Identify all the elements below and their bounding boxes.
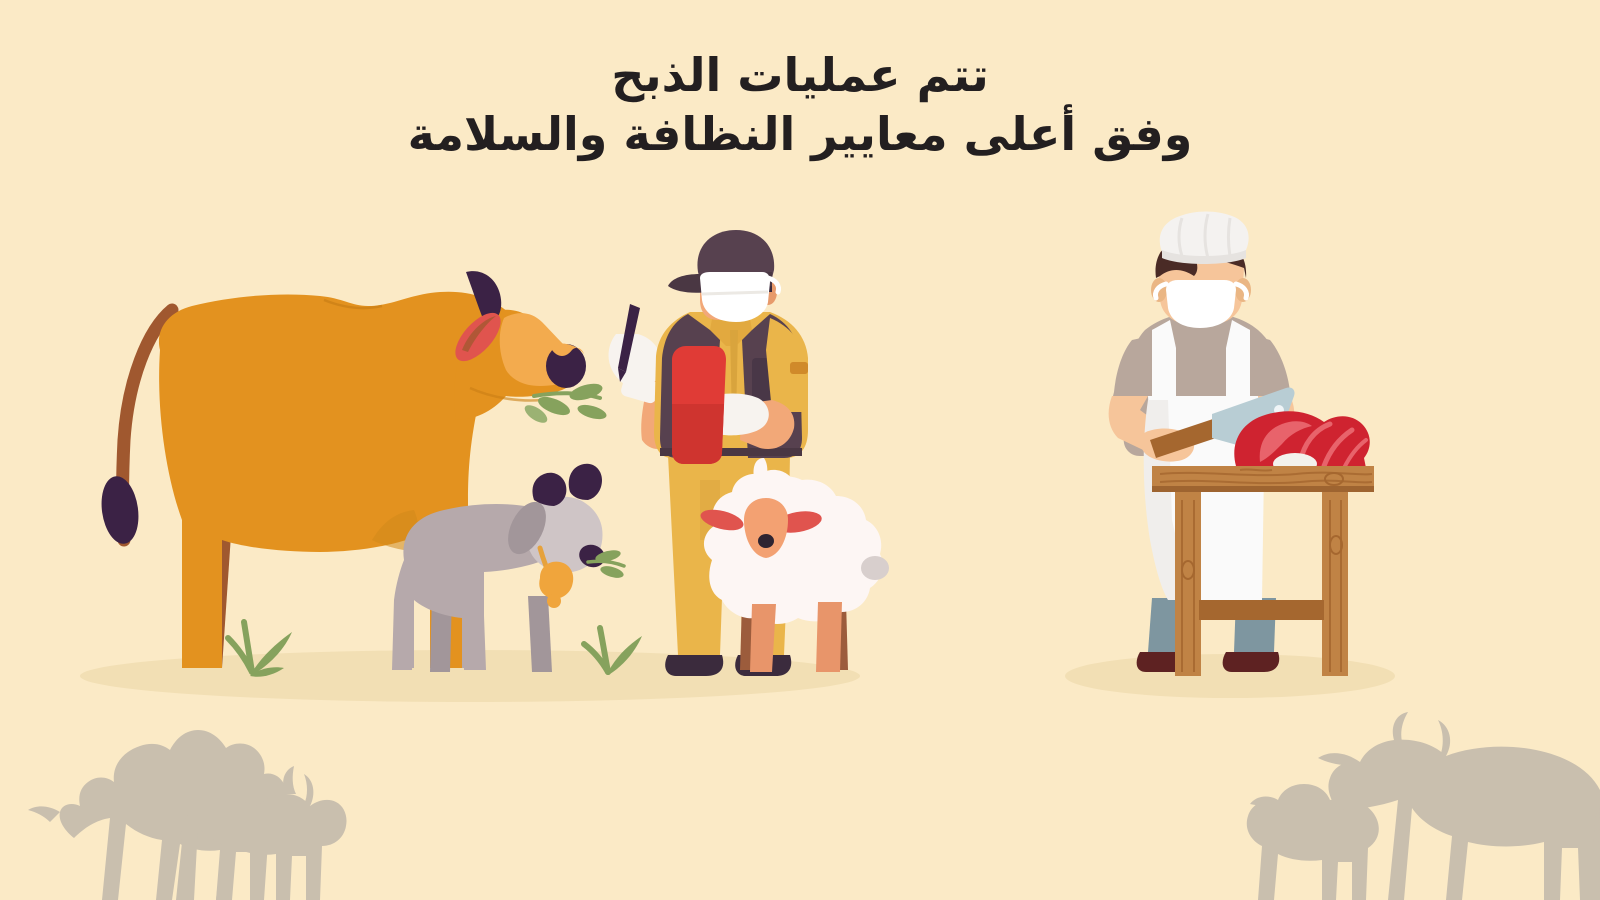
butcher-mask <box>1166 280 1236 328</box>
table-leg-left <box>1175 492 1201 676</box>
butcher-hat-crease-3 <box>1229 218 1231 256</box>
goat-leg-near-front <box>392 600 414 670</box>
poster-canvas: تتم عمليات الذبح وفق أعلى معايير النظافة… <box>0 0 1600 900</box>
butcher-shoe-right <box>1223 652 1280 672</box>
inspector-shoe-left <box>665 655 723 676</box>
inspector-arm-badge <box>790 362 808 374</box>
table-stretcher <box>1199 600 1324 620</box>
butcher-apron-inner <box>1176 348 1226 396</box>
table-top-shade <box>1152 486 1374 492</box>
butcher-apron-strap-left <box>1152 322 1175 396</box>
illustration-canvas <box>0 0 1600 900</box>
sheep-tail <box>861 556 889 580</box>
sheep-leg-near-rear <box>750 604 776 672</box>
goat-leg-near-rear <box>462 616 486 670</box>
sheep-mouth <box>758 534 774 548</box>
goat-leg-far-rear <box>528 596 552 672</box>
goat-bell-clapper <box>547 594 561 608</box>
inspector-mask-fold <box>702 292 768 294</box>
clipboard-shade <box>672 404 724 464</box>
sheep-leg-near-front <box>816 602 842 672</box>
meat-cut <box>1234 411 1369 475</box>
table-leg-right <box>1322 492 1348 676</box>
butcher-apron-strap-right <box>1227 322 1250 396</box>
